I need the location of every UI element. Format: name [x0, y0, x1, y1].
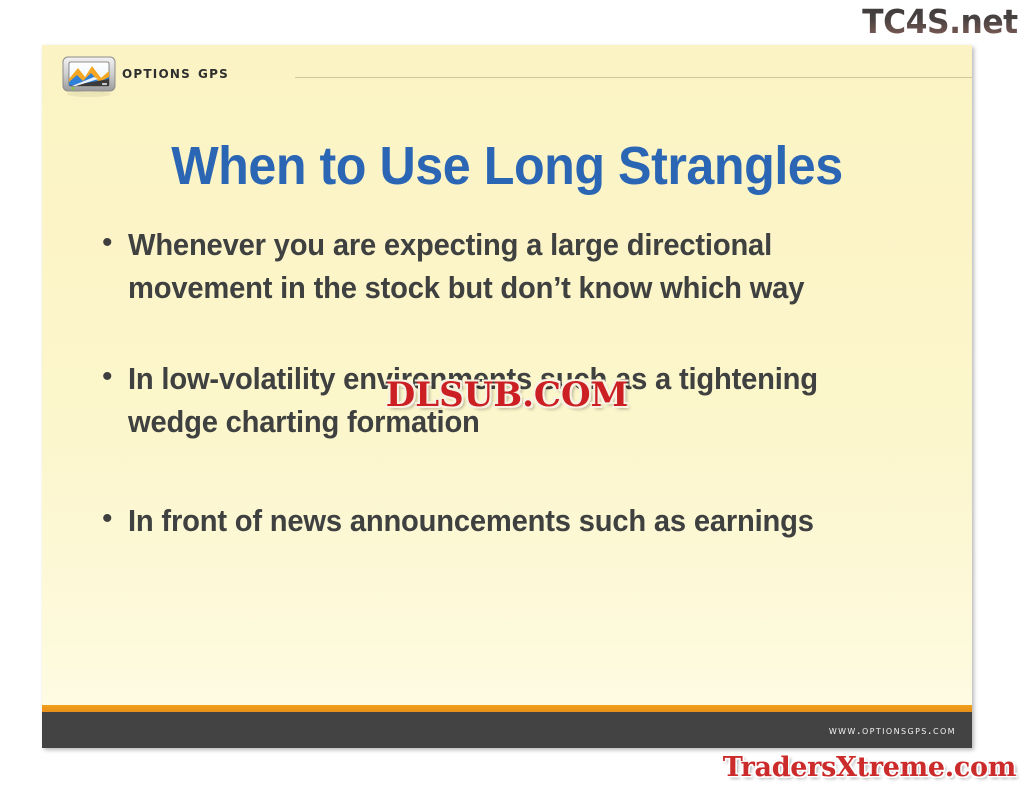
slide-header: Options GPS: [42, 45, 972, 103]
watermark-tradersxtreme: TradersXtreme.com: [723, 752, 1016, 783]
list-item-text: In front of news announcements such as e…: [128, 499, 895, 542]
list-item: • Whenever you are expecting a large dir…: [94, 223, 944, 309]
presentation-slide: Options GPS When to Use Long Strangles •…: [42, 45, 972, 748]
header-divider: [295, 77, 972, 78]
page-title: When to Use Long Strangles: [75, 135, 940, 197]
watermark-dlsub: DLSUB.COM: [386, 375, 628, 415]
bullet-marker-icon: •: [94, 499, 128, 539]
footer-accent-stripe: [42, 705, 972, 712]
slide-footer: www.OptionsGPS.com: [42, 712, 972, 748]
watermark-tc4s: TC4S.net: [863, 2, 1018, 41]
bullet-marker-icon: •: [94, 223, 128, 263]
gps-device-icon: [62, 55, 116, 97]
bullet-marker-icon: •: [94, 357, 128, 397]
list-item-text: Whenever you are expecting a large direc…: [128, 223, 895, 309]
list-item: • In front of news announcements such as…: [94, 499, 944, 542]
brand-name: Options GPS: [122, 63, 229, 83]
footer-url: www.OptionsGPS.com: [829, 723, 956, 737]
